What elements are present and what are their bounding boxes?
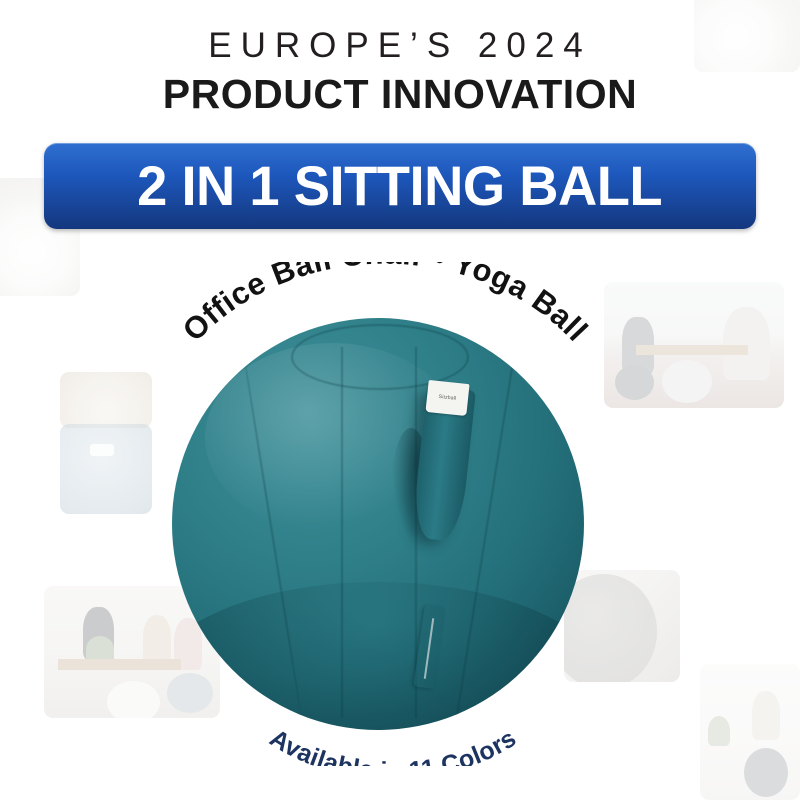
ball-zipper [419, 606, 440, 688]
brand-label-tag: Sitzball [426, 380, 470, 416]
thumbnail-cream-ball-left [60, 372, 152, 428]
thumbnail-figure [752, 691, 780, 740]
ball-handle: Sitzball [419, 388, 468, 540]
arc-bottom-label: Available in 11 Colors [265, 724, 521, 766]
thumbnail-ball [662, 360, 712, 403]
thumbnail-image [60, 372, 152, 428]
thumbnail-figure [723, 307, 770, 380]
headline-banner: 2 IN 1 SITTING BALL [44, 143, 756, 229]
kicker-text: EUROPE’S 2024 [0, 28, 800, 63]
thumbnail-table [58, 659, 181, 671]
ball-top-cap-seam [291, 324, 468, 390]
thumbnail-ball [744, 748, 788, 797]
thumbnail-ball [107, 681, 160, 718]
subheadline-text: PRODUCT INNOVATION [0, 74, 800, 115]
ball-bottom-shading [172, 582, 584, 730]
thumbnail-tag-icon [90, 444, 114, 457]
banner-headline-text: 2 IN 1 SITTING BALL [138, 158, 663, 214]
thumbnail-plant-icon [708, 716, 730, 746]
product-ball: Sitzball [172, 318, 584, 730]
product-listing-image: EUROPE’S 2024 PRODUCT INNOVATION 2 IN 1 … [0, 0, 800, 800]
ball-body: Sitzball [172, 318, 584, 730]
thumbnail-office-meeting-right [604, 282, 784, 408]
thumbnail-image [60, 424, 152, 514]
thumbnail-table [636, 345, 748, 355]
thumbnail-home-desk-bottom-right [700, 664, 800, 800]
thumbnail-light-blue-ball-left [60, 424, 152, 514]
brand-label-text: Sitzball [438, 394, 456, 401]
thumbnail-figure [143, 615, 171, 663]
